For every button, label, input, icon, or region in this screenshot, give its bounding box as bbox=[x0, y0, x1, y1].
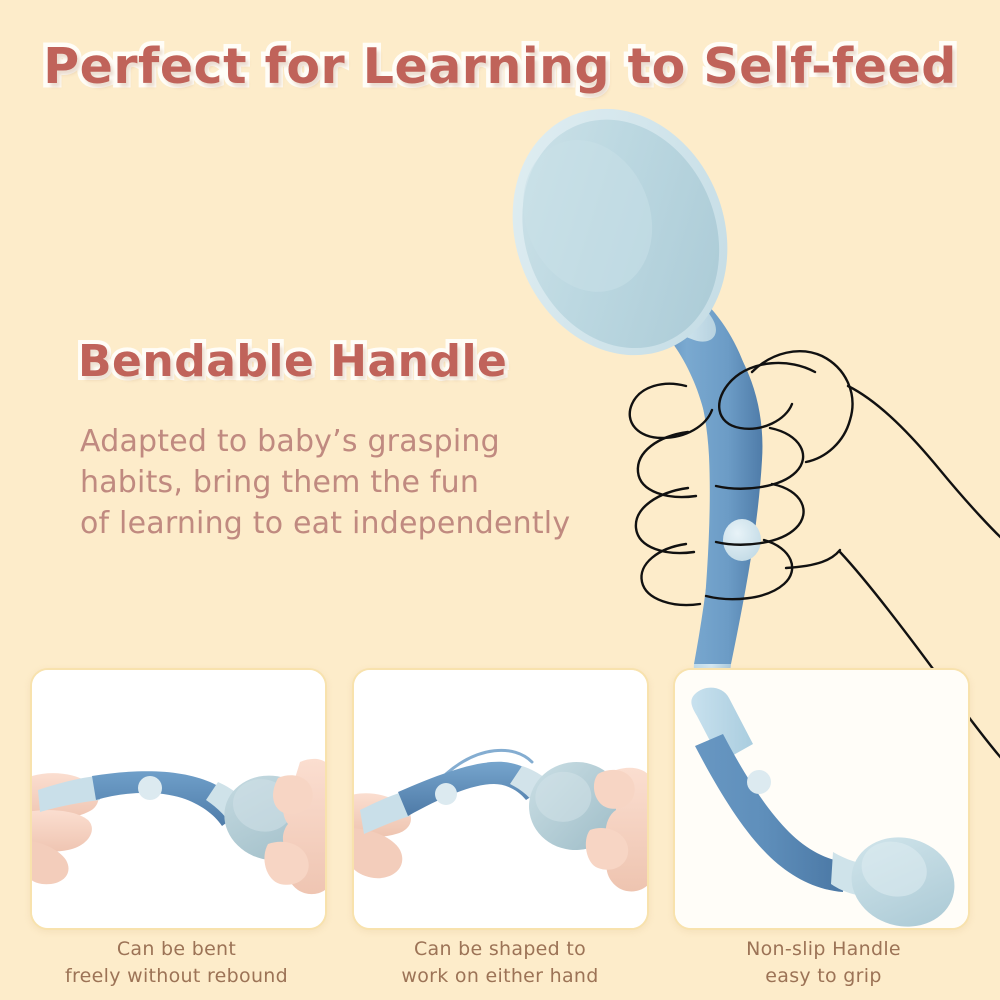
section-heading: Bendable Handle bbox=[78, 336, 507, 387]
thumb bbox=[752, 351, 852, 462]
card-bend-freely bbox=[30, 668, 327, 930]
card-3-illustration bbox=[675, 670, 968, 928]
finger-little bbox=[706, 540, 792, 599]
caption-2-line-1: Can be shaped to bbox=[354, 936, 647, 963]
grip-dot bbox=[138, 776, 162, 800]
section-body: Adapted to baby’s grasping habits, bring… bbox=[80, 421, 680, 544]
finger-index bbox=[719, 363, 815, 429]
caption-2-line-2: work on either hand bbox=[354, 963, 647, 990]
hand-back-edge bbox=[848, 386, 1000, 546]
body-line-2: habits, bring them the fun bbox=[80, 462, 680, 503]
grip-dot bbox=[435, 783, 457, 805]
body-line-1: Adapted to baby’s grasping bbox=[80, 421, 680, 462]
caption-3-line-2: easy to grip bbox=[677, 963, 970, 990]
caption-3-line-1: Non-slip Handle bbox=[677, 936, 970, 963]
finger-middle bbox=[716, 428, 803, 489]
caption-1-line-1: Can be bent bbox=[30, 936, 323, 963]
infographic-page: Perfect for Learning to Self-feed Bendab… bbox=[0, 0, 1000, 1000]
caption-1-line-2: freely without rebound bbox=[30, 963, 323, 990]
wrist-underside bbox=[786, 550, 840, 568]
feature-captions-row: Can be bent freely without rebound Can b… bbox=[0, 936, 1000, 1000]
body-line-3: of learning to eat independently bbox=[80, 503, 680, 544]
card-shape-either-hand bbox=[352, 668, 649, 930]
grip-dot bbox=[747, 770, 771, 794]
card-2-illustration bbox=[354, 670, 647, 928]
caption-non-slip-handle: Non-slip Handle easy to grip bbox=[677, 936, 970, 1000]
card-non-slip-handle bbox=[673, 668, 970, 930]
caption-bend-freely: Can be bent freely without rebound bbox=[30, 936, 323, 1000]
card-1-illustration bbox=[32, 670, 325, 928]
page-title: Perfect for Learning to Self-feed bbox=[0, 38, 1000, 95]
caption-shape-either-hand: Can be shaped to work on either hand bbox=[354, 936, 647, 1000]
spoon-bowl bbox=[476, 76, 763, 388]
finger-ring bbox=[716, 484, 804, 545]
spoon-neck bbox=[614, 268, 716, 342]
grip-dot bbox=[723, 519, 761, 561]
feature-cards-row bbox=[0, 668, 1000, 936]
